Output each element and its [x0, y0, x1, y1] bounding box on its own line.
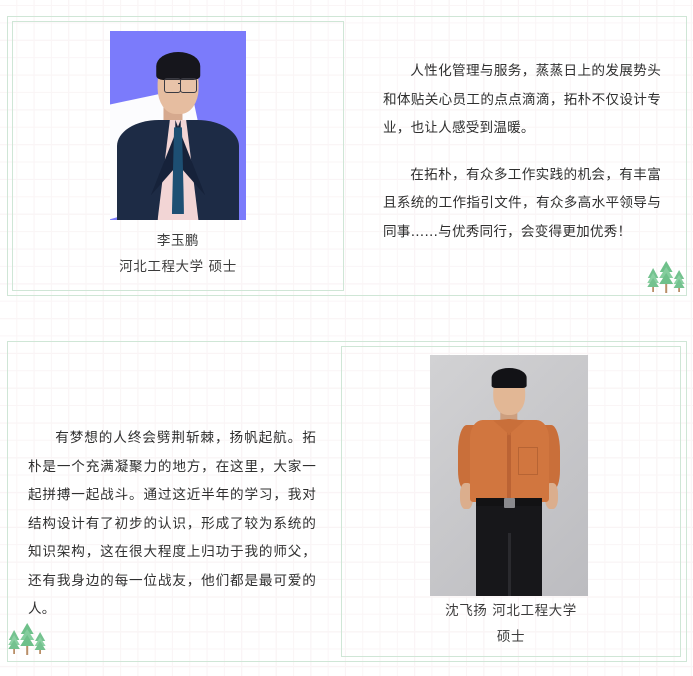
testimonial-paragraph: 在拓朴，有众多工作实践的机会，有丰富且系统的工作指引文件，有众多高水平领导与同事…	[383, 161, 661, 247]
photo-caption-2: 沈飞扬 河北工程大学 硕士	[341, 598, 681, 650]
testimonial-text-2: 有梦想的人终会劈荆斩棘，扬帆起航。拓朴是一个充满凝聚力的地方，在这里，大家一起拼…	[28, 424, 316, 624]
portrait-photo-li-yupeng	[110, 31, 246, 220]
testimonial-paragraph: 有梦想的人终会劈荆斩棘，扬帆起航。拓朴是一个充满凝聚力的地方，在这里，大家一起拼…	[28, 424, 316, 624]
testimonial-paragraph: 人性化管理与服务，蒸蒸日上的发展势头和体贴关心员工的点点滴滴，拓朴不仅设计专业，…	[383, 57, 661, 143]
person-name-2: 沈飞扬 河北工程大学	[341, 598, 681, 624]
portrait-photo-shen-feiyang	[430, 355, 588, 596]
three-trees-icon	[645, 258, 687, 302]
photo-caption-1: 李玉鹏 河北工程大学 硕士	[12, 228, 344, 280]
person-affiliation-2: 硕士	[341, 624, 681, 650]
person-affiliation-1: 河北工程大学 硕士	[12, 254, 344, 280]
three-trees-icon	[6, 620, 48, 664]
person-name-1: 李玉鹏	[12, 228, 344, 254]
testimonial-text-1: 人性化管理与服务，蒸蒸日上的发展势头和体贴关心员工的点点滴滴，拓朴不仅设计专业，…	[383, 57, 661, 246]
